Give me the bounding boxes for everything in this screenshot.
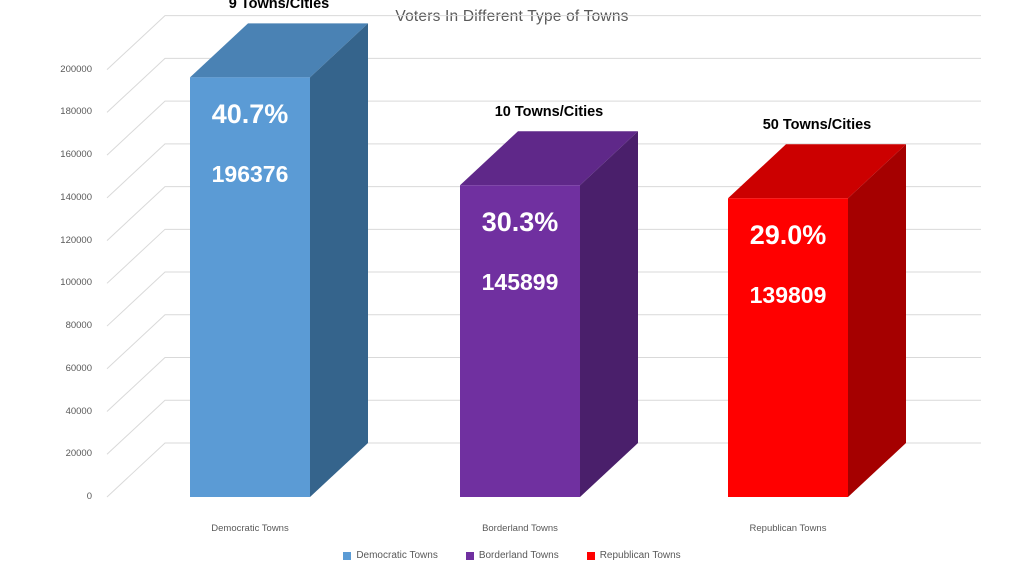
bar-value-label: 145899 <box>460 271 580 294</box>
legend-swatch-borderland <box>466 552 474 560</box>
bar-side-face-democratic[interactable] <box>310 23 368 497</box>
bar-front-face-democratic[interactable] <box>190 77 310 497</box>
legend-item[interactable]: Republican Towns <box>587 551 681 561</box>
legend-item[interactable]: Borderland Towns <box>466 551 559 561</box>
legend-swatch-democratic <box>343 552 351 560</box>
bar-side-face-republican[interactable] <box>848 144 906 497</box>
x-axis-category-label: Borderland Towns <box>410 524 630 534</box>
legend-label-borderland: Borderland Towns <box>479 551 559 561</box>
bar-value-label: 196376 <box>190 163 310 186</box>
bar-header-label: 10 Towns/Cities <box>400 105 698 120</box>
legend-swatch-republican <box>587 552 595 560</box>
bar-percent-label: 40.7% <box>190 101 310 128</box>
legend-label-democratic: Democratic Towns <box>356 551 438 561</box>
bar-percent-label: 29.0% <box>728 222 848 249</box>
bar-percent-label: 30.3% <box>460 209 580 236</box>
x-axis-category-label: Republican Towns <box>678 524 898 534</box>
legend-item[interactable]: Democratic Towns <box>343 551 438 561</box>
chart-legend: Democratic Towns Borderland Towns Republ… <box>0 551 1024 561</box>
chart-container: Voters In Different Type of Towns 020000… <box>0 0 1024 576</box>
x-axis-category-label: Democratic Towns <box>140 524 360 534</box>
bar-header-label: 50 Towns/Cities <box>668 118 966 133</box>
bar-side-face-borderland[interactable] <box>580 131 638 497</box>
bar-header-label: 9 Towns/Cities <box>130 0 428 12</box>
bar-value-label: 139809 <box>728 284 848 307</box>
legend-label-republican: Republican Towns <box>600 551 681 561</box>
